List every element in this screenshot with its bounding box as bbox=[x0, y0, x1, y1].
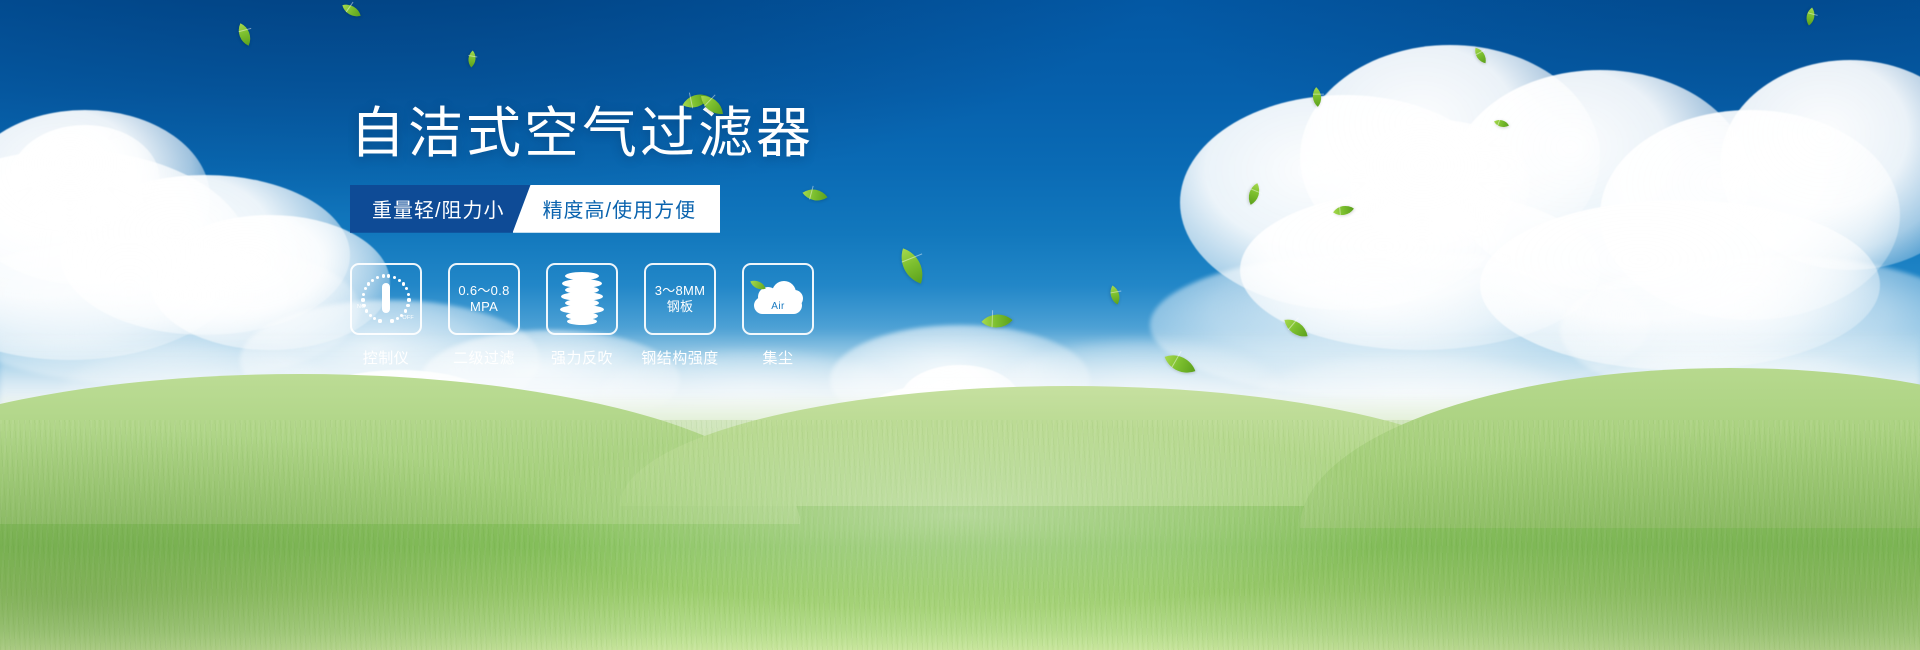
dial-tick bbox=[406, 304, 409, 307]
dial-tick bbox=[398, 279, 401, 282]
feature-list: NO OFF 控制仪 0.6～0.8 MPA 二级过滤 bbox=[350, 263, 1110, 368]
dial-tick bbox=[382, 274, 385, 277]
dial-tick bbox=[407, 298, 410, 301]
dial-needle bbox=[382, 283, 390, 313]
feature-box: Air bbox=[742, 263, 814, 335]
dial-tick bbox=[396, 317, 399, 320]
control-dial-icon: NO OFF bbox=[358, 273, 414, 325]
feature-caption: 强力反吹 bbox=[551, 347, 613, 368]
feature-item-secondary-filter[interactable]: 0.6～0.8 MPA 二级过滤 bbox=[448, 263, 520, 368]
cloud-air-icon: Air bbox=[750, 277, 806, 321]
steel-plate-text-icon: 3～8MM 钢板 bbox=[655, 283, 706, 316]
dial-tick bbox=[361, 298, 364, 301]
banner-stage: 自洁式空气过滤器 重量轻/阻力小 精度高/使用方便 NO OFF 控制仪 bbox=[0, 0, 1920, 650]
dial-tick bbox=[393, 276, 396, 279]
page-title: 自洁式空气过滤器 bbox=[350, 105, 1110, 163]
banner-content: 自洁式空气过滤器 重量轻/阻力小 精度高/使用方便 NO OFF 控制仪 bbox=[350, 105, 1110, 368]
tab-highprecision-easyuse[interactable]: 精度高/使用方便 bbox=[513, 185, 721, 233]
feature-item-controller[interactable]: NO OFF 控制仪 bbox=[350, 263, 422, 368]
dial-tick bbox=[373, 317, 376, 320]
dial-tick bbox=[404, 309, 407, 312]
feature-caption: 集尘 bbox=[762, 347, 793, 368]
tab-list: 重量轻/阻力小 精度高/使用方便 bbox=[350, 185, 1110, 233]
dial-tick bbox=[387, 274, 390, 277]
air-label: Air bbox=[750, 301, 806, 312]
grass-field bbox=[0, 420, 1920, 650]
feature-box: 3～8MM 钢板 bbox=[644, 263, 716, 335]
dial-tick bbox=[402, 282, 405, 285]
dial-tick bbox=[405, 287, 408, 290]
dial-tick bbox=[376, 276, 379, 279]
feature-caption: 控制仪 bbox=[363, 347, 410, 368]
grass-highlight bbox=[510, 420, 1410, 610]
pressure-text-icon: 0.6～0.8 MPA bbox=[458, 283, 509, 316]
dial-tick bbox=[362, 304, 365, 307]
coil-filter-icon bbox=[557, 272, 607, 326]
dial-tick bbox=[407, 293, 410, 296]
dial-tick bbox=[362, 293, 365, 296]
feature-caption: 钢结构强度 bbox=[641, 347, 719, 368]
cloud-puff bbox=[1350, 120, 1530, 250]
coil-ring bbox=[567, 318, 597, 325]
feature-item-steel-strength[interactable]: 3～8MM 钢板 钢结构强度 bbox=[644, 263, 716, 368]
feature-box bbox=[546, 263, 618, 335]
feature-item-backblow[interactable]: 强力反吹 bbox=[546, 263, 618, 368]
dial-tick bbox=[378, 319, 381, 322]
feature-box: NO OFF bbox=[350, 263, 422, 335]
cloud-puff bbox=[10, 125, 160, 235]
feature-box: 0.6～0.8 MPA bbox=[448, 263, 520, 335]
dial-tick bbox=[371, 279, 374, 282]
dial-label-off: OFF bbox=[402, 315, 414, 321]
feature-item-dust-collection[interactable]: Air 集尘 bbox=[742, 263, 814, 368]
tab-lightweight-lowresistance[interactable]: 重量轻/阻力小 bbox=[350, 185, 531, 233]
dial-tick bbox=[390, 319, 393, 322]
dial-tick bbox=[369, 314, 372, 317]
dial-tick bbox=[364, 287, 367, 290]
feature-caption: 二级过滤 bbox=[453, 347, 515, 368]
dial-tick bbox=[367, 282, 370, 285]
dial-tick bbox=[365, 309, 368, 312]
